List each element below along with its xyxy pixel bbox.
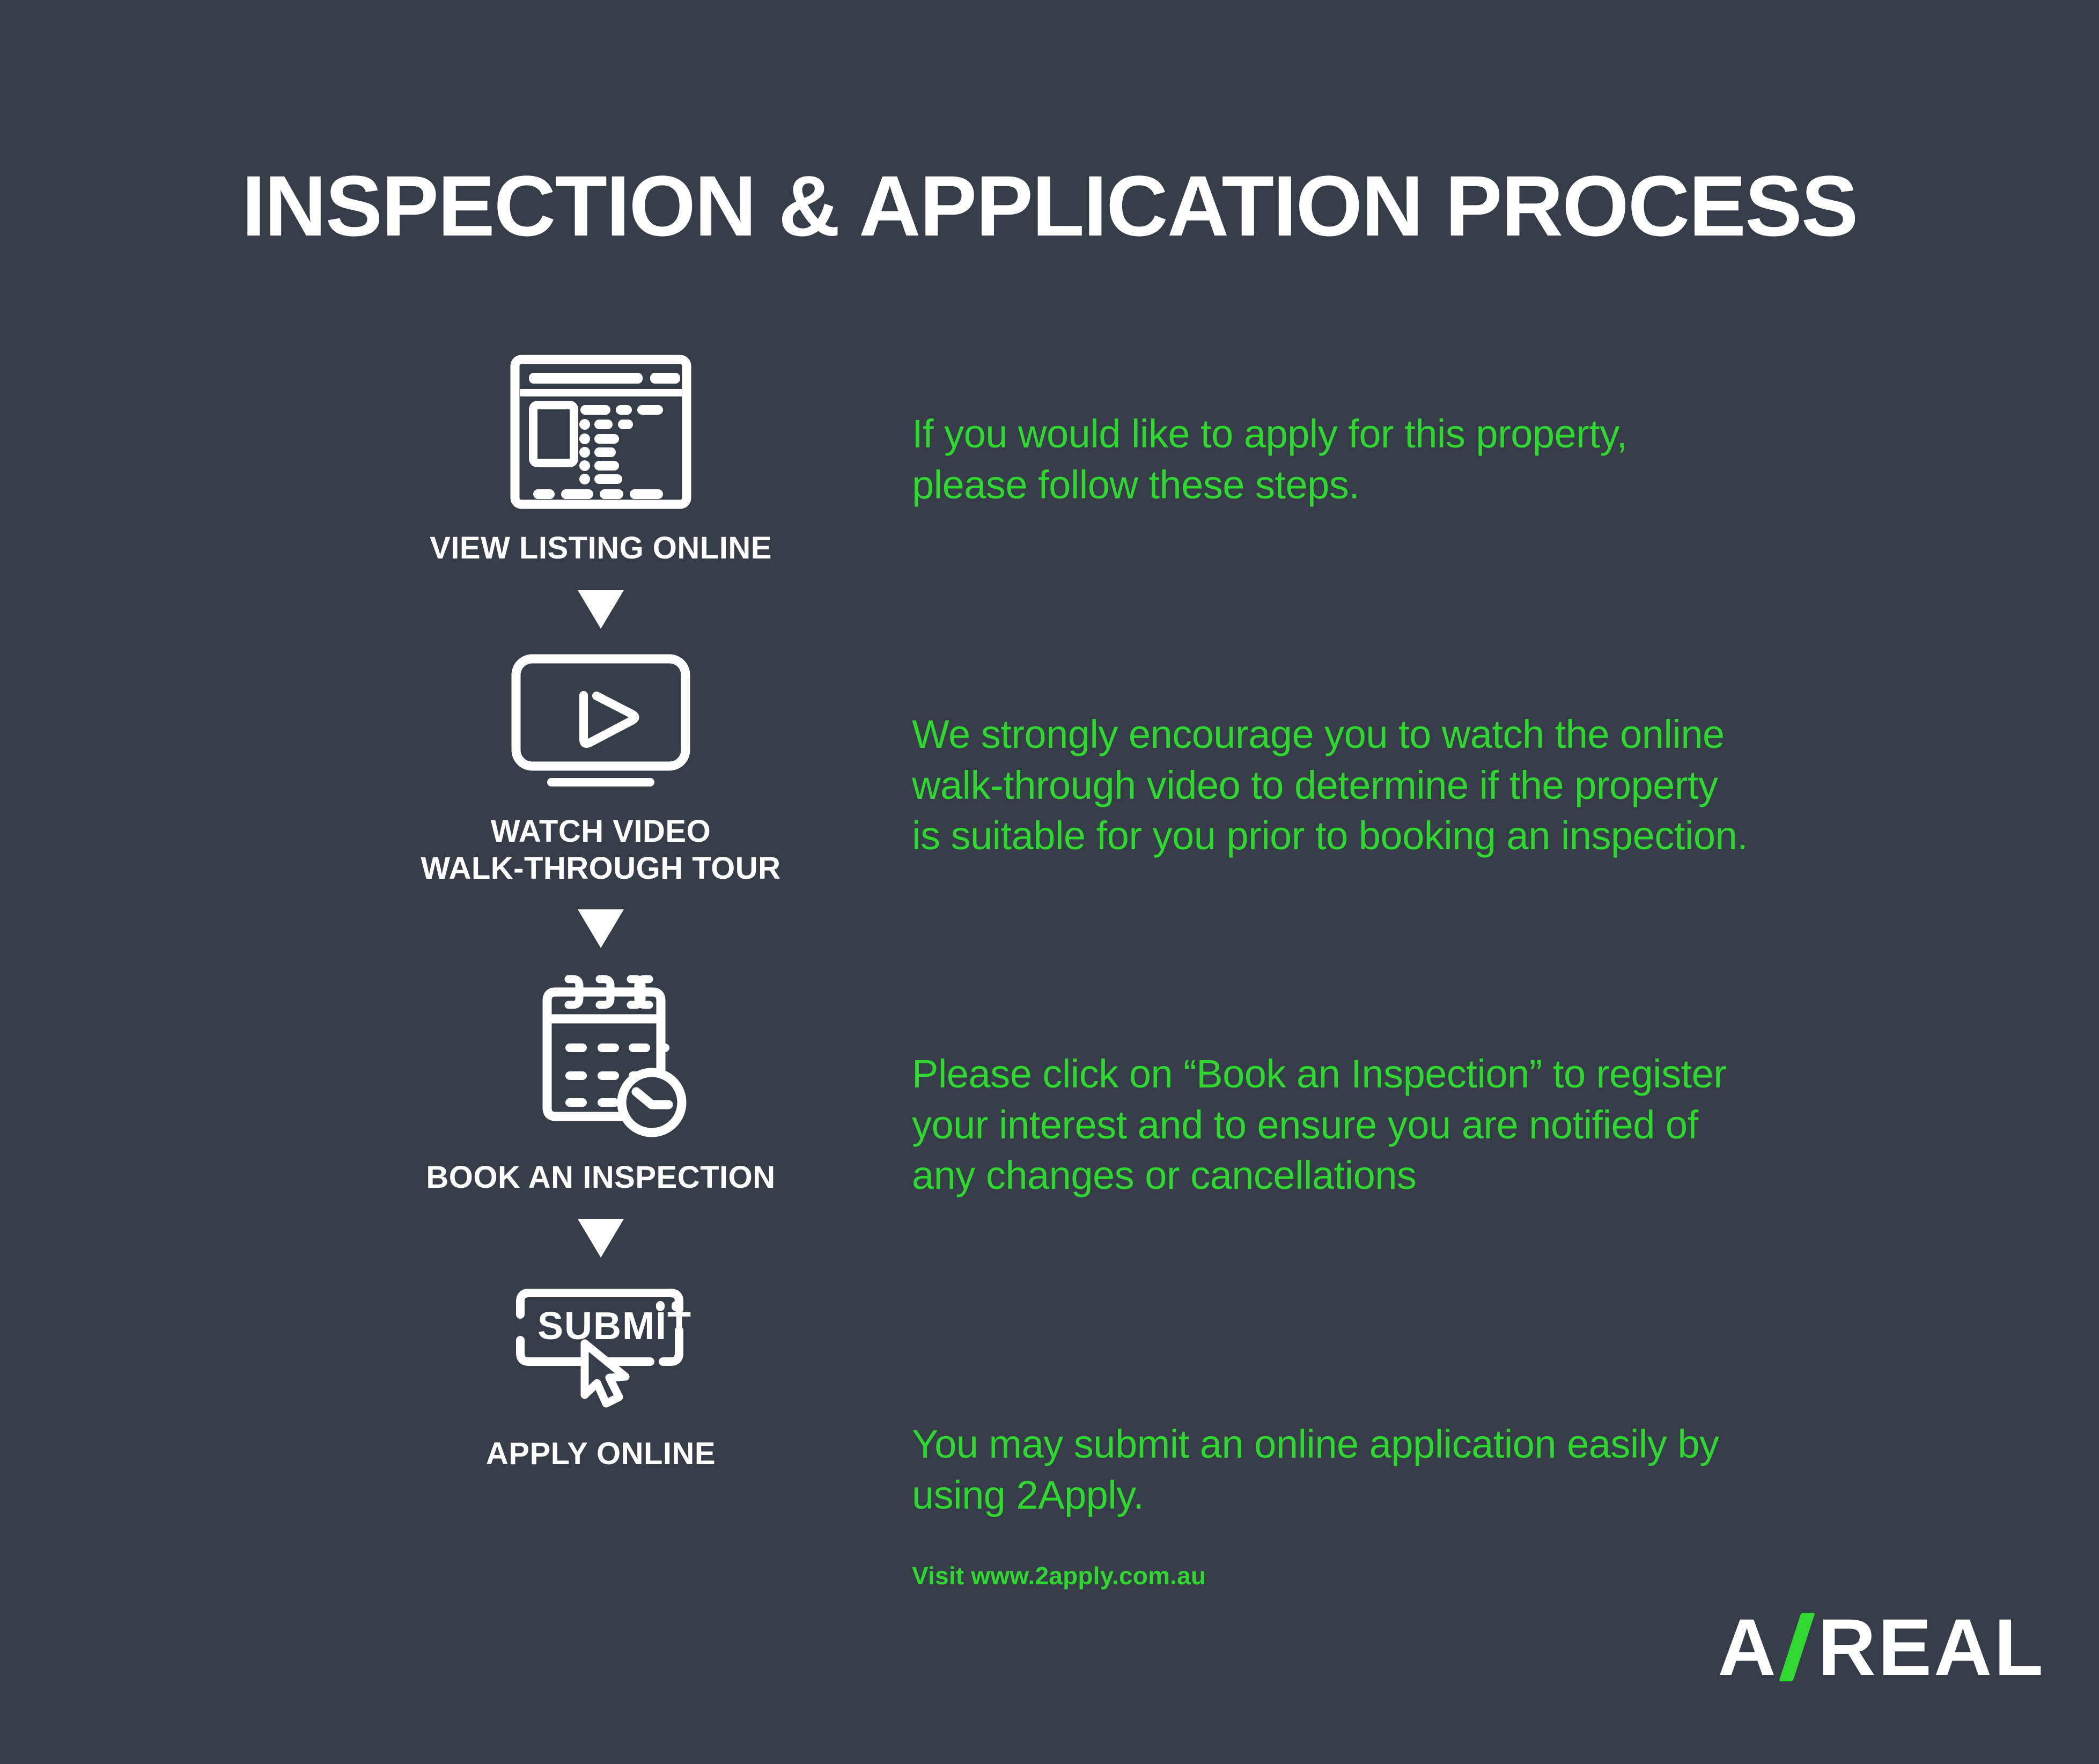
listing-window-icon-wrap — [333, 354, 869, 510]
step-apply-online: SUBMIT APPLY ONLINE — [333, 1281, 869, 1472]
video-play-monitor-icon — [510, 652, 692, 793]
step-label-book-inspection: BOOK AN INSPECTION — [333, 1159, 869, 1196]
areal-logo: A REAL — [1718, 1607, 2045, 1687]
step-label-watch-video-line1: WATCH VIDEO — [333, 813, 869, 850]
down-triangle-arrow-icon-2 — [333, 909, 869, 948]
page-title: INSPECTION & APPLICATION PROCESS — [0, 161, 2099, 251]
copy-line: walk-through video to determine if the p… — [912, 760, 1894, 811]
calendar-clock-icon — [510, 967, 692, 1139]
step-label-watch-video: WATCH VIDEO WALK-THROUGH TOUR — [333, 813, 869, 887]
copy-line: any changes or cancellations — [912, 1150, 1856, 1201]
submit-button-cursor-icon: SUBMIT — [510, 1281, 692, 1415]
copy-line: We strongly encourage you to watch the o… — [912, 709, 1894, 760]
infographic-page: INSPECTION & APPLICATION PROCESS — [0, 0, 2099, 1764]
visit-2apply-link[interactable]: Visit www.2apply.com.au — [912, 1561, 1206, 1590]
copy-line: please follow these steps. — [912, 460, 1824, 511]
video-play-monitor-icon-wrap — [333, 652, 869, 793]
step-label-apply-online: APPLY ONLINE — [333, 1436, 869, 1472]
submit-button-cursor-icon-wrap: SUBMIT — [333, 1281, 869, 1415]
copy-block-view-listing: If you would like to apply for this prop… — [912, 409, 1824, 510]
copy-line: Please click on “Book an Inspection” to … — [912, 1049, 1856, 1100]
copy-line: using 2Apply. — [912, 1470, 1856, 1521]
logo-letter-a: A — [1718, 1607, 1778, 1687]
step-label-watch-video-line2: WALK-THROUGH TOUR — [333, 850, 869, 887]
step-watch-video: WATCH VIDEO WALK-THROUGH TOUR — [333, 652, 869, 887]
step-label-view-listing-online: VIEW LISTING ONLINE — [333, 530, 869, 567]
step-view-listing-online: VIEW LISTING ONLINE — [333, 354, 869, 567]
copy-block-book-inspection: Please click on “Book an Inspection” to … — [912, 1049, 1856, 1201]
calendar-clock-icon-wrap — [333, 967, 869, 1139]
down-triangle-arrow-icon-1 — [333, 590, 869, 629]
process-flow-column: VIEW LISTING ONLINE WATCH VIDEO WALK-THR… — [333, 354, 869, 1472]
svg-text:SUBMIT: SUBMIT — [537, 1305, 692, 1348]
copy-block-apply-online: You may submit an online application eas… — [912, 1419, 1856, 1520]
copy-line: If you would like to apply for this prop… — [912, 409, 1824, 460]
step-book-inspection: BOOK AN INSPECTION — [333, 967, 869, 1196]
copy-line: is suitable for you prior to booking an … — [912, 811, 1894, 862]
logo-word-real: REAL — [1818, 1607, 2045, 1687]
copy-line: your interest and to ensure you are noti… — [912, 1100, 1856, 1151]
listing-window-icon — [510, 354, 692, 510]
down-triangle-arrow-icon-3 — [333, 1219, 869, 1258]
logo-slash-icon — [1779, 1613, 1815, 1681]
copy-block-watch-video: We strongly encourage you to watch the o… — [912, 709, 1894, 862]
copy-line: You may submit an online application eas… — [912, 1419, 1856, 1470]
